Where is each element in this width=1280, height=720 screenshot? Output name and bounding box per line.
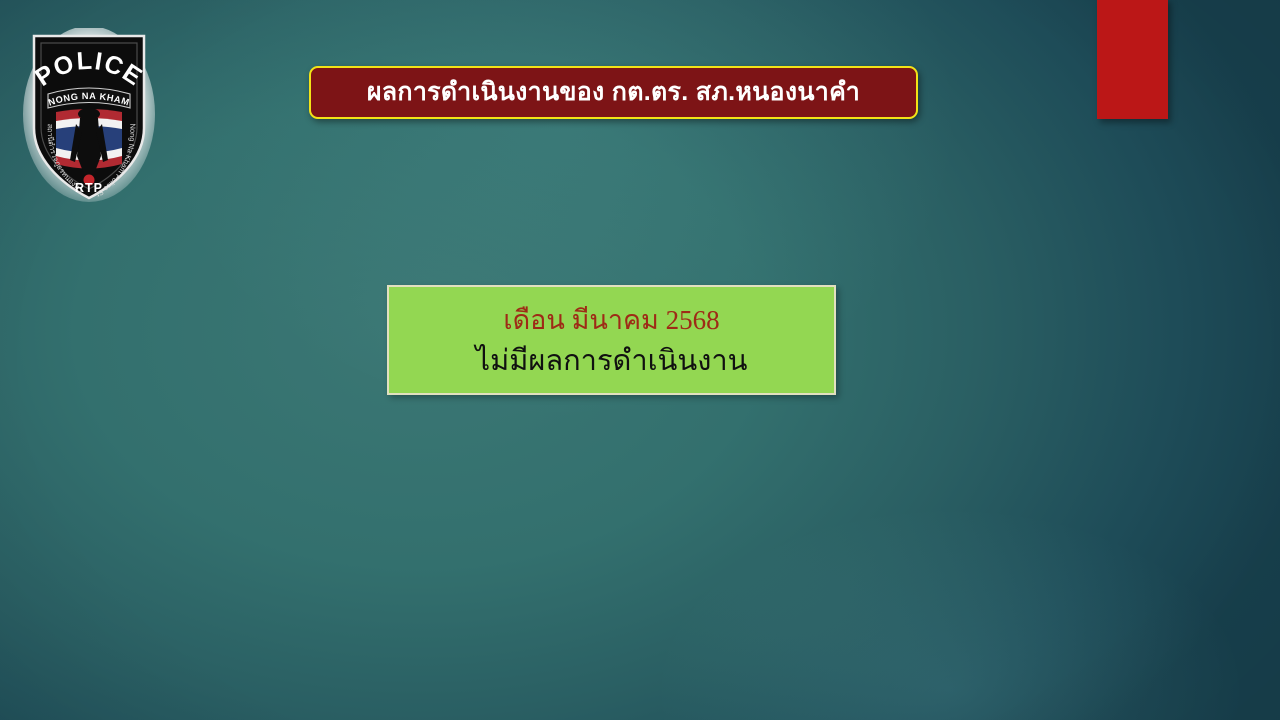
month-label: เดือน มีนาคม 2568 — [503, 304, 719, 338]
red-accent-rectangle — [1097, 0, 1168, 119]
slide-canvas: POLICE NONG NA KHAM — [0, 0, 1280, 720]
content-card: เดือน มีนาคม 2568 ไม่มีผลการดำเนินงาน — [387, 285, 836, 395]
police-badge-logo: POLICE NONG NA KHAM — [22, 28, 156, 206]
page-title: ผลการดำเนินงานของ กต.ตร. สภ.หนองนาคำ — [367, 80, 860, 105]
title-banner: ผลการดำเนินงานของ กต.ตร. สภ.หนองนาคำ — [309, 66, 918, 119]
svg-text:RTP: RTP — [75, 181, 103, 195]
no-results-message: ไม่มีผลการดำเนินงาน — [476, 343, 748, 381]
